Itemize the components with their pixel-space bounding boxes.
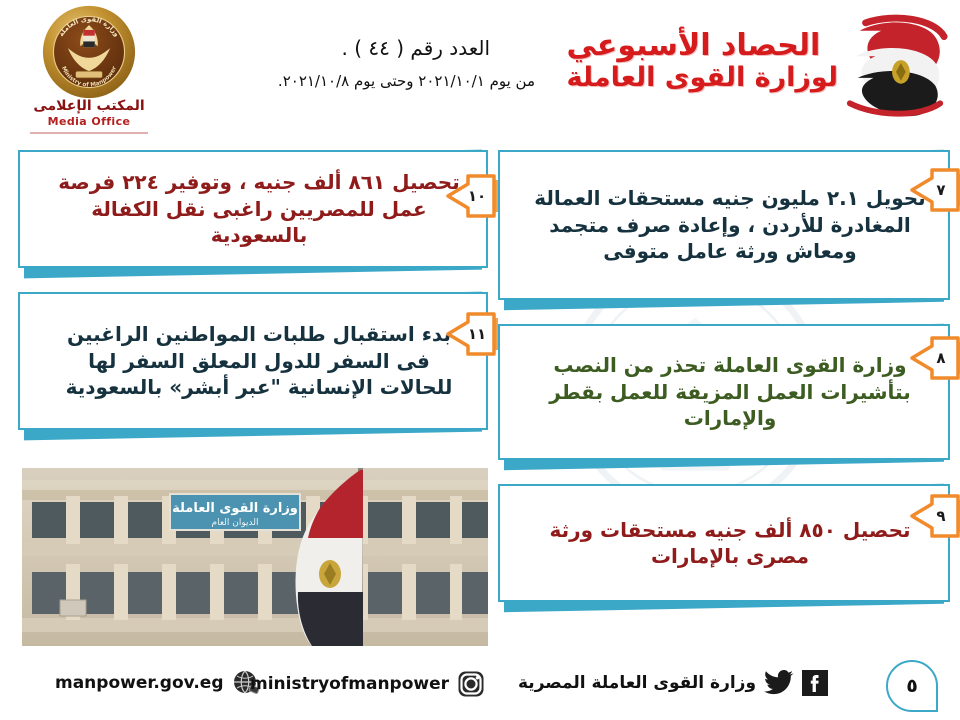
ministry-building-photo: وزارة القوى العاملة الديوان العام xyxy=(22,468,488,646)
media-office-divider xyxy=(30,132,148,134)
ministry-seal-icon: وزارة القوى العاملة Ministry of Manpower xyxy=(41,4,137,100)
website-link[interactable]: manpower.gov.eg xyxy=(55,670,262,696)
date-range-text: من يوم ٢٠٢١/١٠/١ وحتى يوم ٢٠٢١/١٠/٨. xyxy=(278,72,535,90)
page-number-badge: ٥ xyxy=(886,660,938,712)
news-card[interactable]: تحويل ٢.١ مليون جنيه مستحقات العمالة الم… xyxy=(498,150,950,310)
svg-text:وزارة القوى العاملة: وزارة القوى العاملة xyxy=(172,501,298,516)
news-card[interactable]: تحصيل ٨٦١ ألف جنيه ، وتوفير ٢٢٤ فرصة عمل… xyxy=(18,150,488,278)
card-text: بدء استقبال طلبات المواطنين الراغبين فى … xyxy=(54,321,464,400)
card-number-label: ٧ xyxy=(906,166,960,214)
facebook-icon xyxy=(802,670,828,696)
page-header: وزارة القوى العاملة Ministry of Manpower… xyxy=(0,0,960,145)
card-number-label: ١١ xyxy=(442,310,500,358)
media-office-label-en: Media Office xyxy=(16,115,162,128)
social-accounts[interactable]: وزارة القوى العاملة المصرية xyxy=(518,670,828,696)
card-number-arrow: ١١ xyxy=(442,310,500,358)
card-number-label: ١٠ xyxy=(442,172,500,220)
news-card[interactable]: بدء استقبال طلبات المواطنين الراغبين فى … xyxy=(18,292,488,440)
news-card[interactable]: تحصيل ٨٥٠ ألف جنيه مستحقات ورثة مصرى بال… xyxy=(498,484,950,612)
news-card[interactable]: وزارة القوى العاملة تحذر من النصب بتأشير… xyxy=(498,324,950,470)
card-number-arrow: ٩ xyxy=(906,492,960,540)
cards-column-left: تحصيل ٨٦١ ألف جنيه ، وتوفير ٢٢٤ فرصة عمل… xyxy=(18,150,488,454)
social-handle-label: وزارة القوى العاملة المصرية xyxy=(518,673,756,693)
egypt-flag-ribbon-icon xyxy=(842,12,950,124)
issue-number-text: العدد رقم ( ٤٤ ) . xyxy=(342,36,490,60)
instagram-icon xyxy=(457,670,485,698)
card-panel: بدء استقبال طلبات المواطنين الراغبين فى … xyxy=(18,292,488,430)
title-main-line: الحصاد الأسبوعي xyxy=(566,30,838,62)
ministry-logo-block: وزارة القوى العاملة Ministry of Manpower… xyxy=(16,4,162,134)
media-office-label-ar: المكتب الإعلامى xyxy=(16,98,162,114)
card-panel: تحصيل ٨٦١ ألف جنيه ، وتوفير ٢٢٤ فرصة عمل… xyxy=(18,150,488,268)
card-number-label: ٩ xyxy=(906,492,960,540)
card-panel: تحصيل ٨٥٠ ألف جنيه مستحقات ورثة مصرى بال… xyxy=(498,484,950,602)
card-panel: تحويل ٢.١ مليون جنيه مستحقات العمالة الم… xyxy=(498,150,950,300)
card-number-arrow: ١٠ xyxy=(442,172,500,220)
card-text: وزارة القوى العاملة تحذر من النصب بتأشير… xyxy=(534,352,926,431)
svg-text:الديوان العام: الديوان العام xyxy=(212,518,259,528)
instagram-handle: ministryofmanpower xyxy=(250,674,449,694)
page-footer: manpower.gov.eg ministryofmanpower وزارة… xyxy=(0,650,960,720)
title-sub-line: لوزارة القوى العاملة xyxy=(566,64,838,92)
page-title: الحصاد الأسبوعي لوزارة القوى العاملة xyxy=(566,30,838,92)
card-text: تحصيل ٨٥٠ ألف جنيه مستحقات ورثة مصرى بال… xyxy=(534,517,926,570)
website-label: manpower.gov.eg xyxy=(55,673,224,693)
card-panel: وزارة القوى العاملة تحذر من النصب بتأشير… xyxy=(498,324,950,460)
cards-column-right: تحويل ٢.١ مليون جنيه مستحقات العمالة الم… xyxy=(498,150,950,626)
twitter-icon xyxy=(764,670,794,696)
infographic-page: وزارة القوى العاملة Ministry of Manpower… xyxy=(0,0,960,720)
card-number-arrow: ٧ xyxy=(906,166,960,214)
instagram-link[interactable]: ministryofmanpower xyxy=(250,670,485,698)
card-number-label: ٨ xyxy=(906,334,960,382)
card-text: تحويل ٢.١ مليون جنيه مستحقات العمالة الم… xyxy=(534,185,926,264)
card-number-arrow: ٨ xyxy=(906,334,960,382)
card-text: تحصيل ٨٦١ ألف جنيه ، وتوفير ٢٢٤ فرصة عمل… xyxy=(54,169,464,248)
